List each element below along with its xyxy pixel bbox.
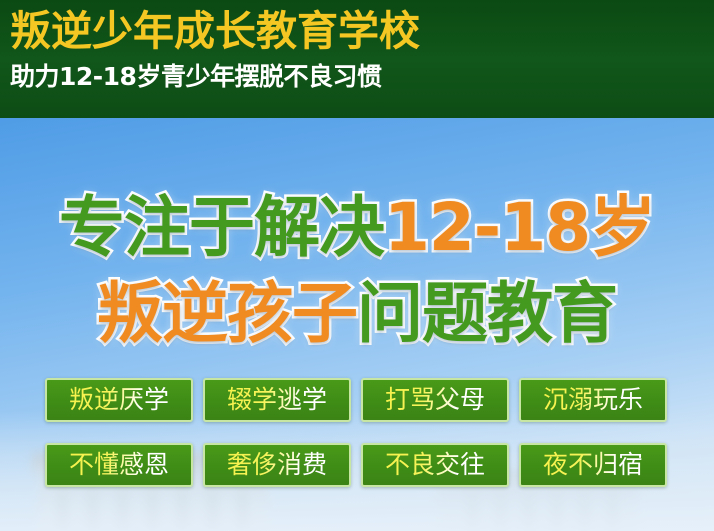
tag-item[interactable]: 打骂父母	[361, 378, 509, 422]
headline-line-2-green-part: 问题教育	[357, 275, 617, 352]
tag-item[interactable]: 奢侈消费	[203, 443, 351, 487]
tag-item[interactable]: 沉溺玩乐	[519, 378, 667, 422]
tag-label: 不懂感恩	[69, 451, 169, 479]
headline-line-1-orange-part: 12-18岁	[384, 189, 655, 266]
problem-tag-grid: 叛逆厌学 辍学逃学 打骂父母 沉溺玩乐 不懂感恩 奢侈消费 不良交往 夜不归宿	[45, 378, 669, 487]
promo-poster: 叛逆少年成长教育学校 助力12-18岁青少年摆脱不良习惯 专注于解决12-18岁…	[0, 0, 714, 531]
headline-line-2-orange-part: 叛逆孩子	[97, 275, 357, 352]
school-name-subtitle: 助力12-18岁青少年摆脱不良习惯	[10, 60, 714, 94]
tag-label: 叛逆厌学	[69, 386, 169, 414]
tag-item[interactable]: 辍学逃学	[203, 378, 351, 422]
headline-line-2: 叛逆孩子问题教育	[0, 274, 714, 354]
tag-item[interactable]: 不懂感恩	[45, 443, 193, 487]
main-headline: 专注于解决12-18岁 叛逆孩子问题教育	[0, 188, 714, 354]
tag-label: 夜不归宿	[543, 451, 643, 479]
headline-line-1: 专注于解决12-18岁	[0, 188, 714, 268]
tag-item[interactable]: 不良交往	[361, 443, 509, 487]
school-name-title: 叛逆少年成长教育学校	[10, 6, 714, 56]
tag-label: 不良交往	[385, 451, 485, 479]
tag-label: 辍学逃学	[227, 386, 327, 414]
tag-label: 奢侈消费	[227, 451, 327, 479]
tag-label: 打骂父母	[385, 386, 485, 414]
tag-item[interactable]: 夜不归宿	[519, 443, 667, 487]
header-banner: 叛逆少年成长教育学校 助力12-18岁青少年摆脱不良习惯	[0, 0, 714, 118]
headline-line-1-green-part: 专注于解决	[59, 189, 384, 266]
tag-item[interactable]: 叛逆厌学	[45, 378, 193, 422]
tag-label: 沉溺玩乐	[543, 386, 643, 414]
